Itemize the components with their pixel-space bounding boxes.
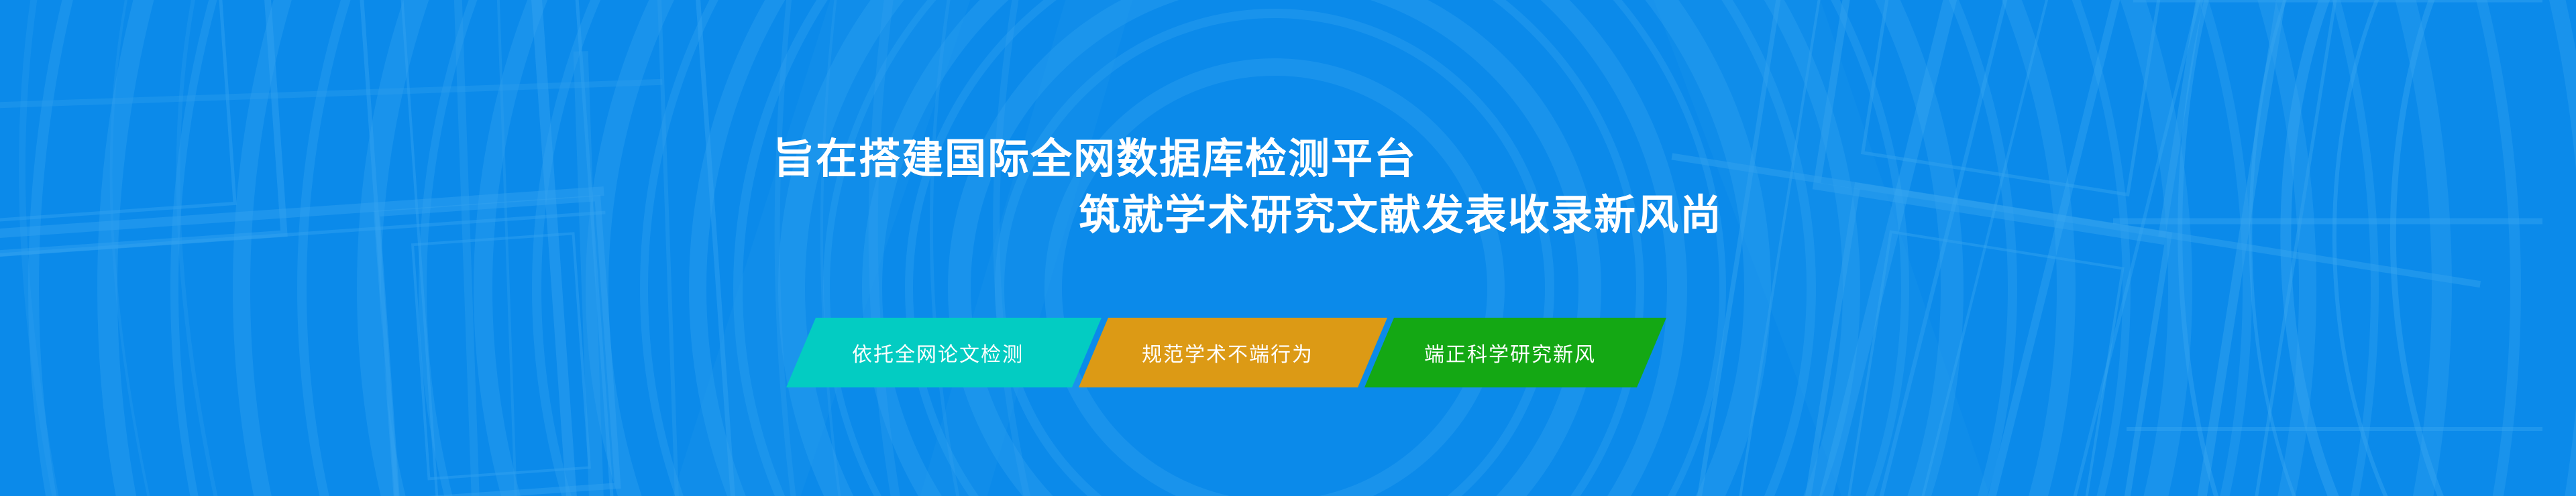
feature-tab-2-label: 规范学术不端行为 (1142, 338, 1313, 367)
feature-tab-2[interactable]: 规范学术不端行为 (1079, 318, 1387, 387)
feature-tab-1[interactable]: 依托全网论文检测 (786, 318, 1102, 387)
feature-tab-strip: 依托全网论文检测 规范学术不端行为 端正科学研究新风 (786, 318, 1666, 387)
background-decoration (0, 0, 2576, 496)
feature-tab-3[interactable]: 端正科学研究新风 (1364, 318, 1666, 387)
feature-tab-1-label: 依托全网论文检测 (852, 338, 1024, 367)
feature-tab-3-label: 端正科学研究新风 (1424, 338, 1596, 367)
promo-banner: 旨在搭建国际全网数据库检测平台 筑就学术研究文献发表收录新风尚 依托全网论文检测… (0, 0, 2576, 496)
headline-line-2: 筑就学术研究文献发表收录新风尚 (1079, 188, 2576, 244)
headline-line-1: 旨在搭建国际全网数据库检测平台 (773, 131, 2576, 188)
headline-block: 旨在搭建国际全网数据库检测平台 筑就学术研究文献发表收录新风尚 (0, 131, 2576, 244)
